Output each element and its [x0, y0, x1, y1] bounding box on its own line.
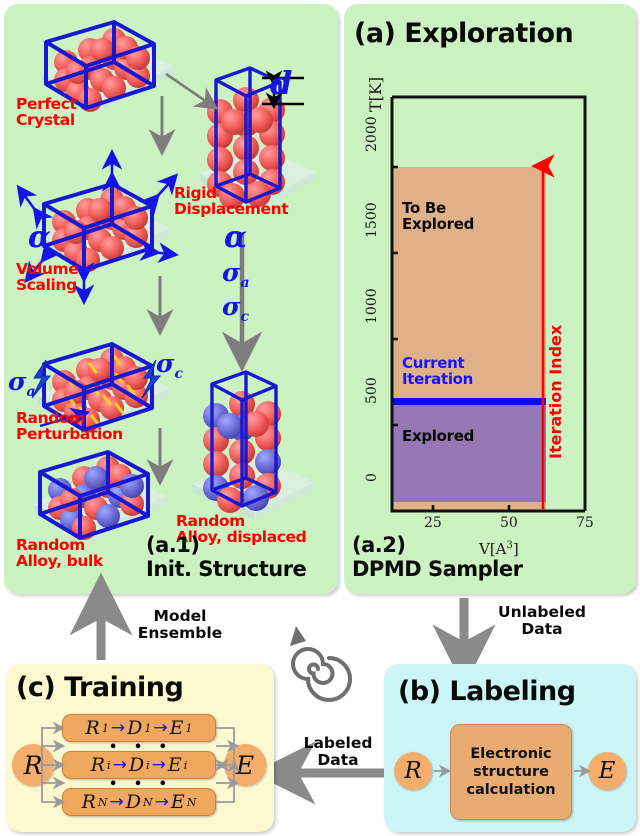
chart-ytick-1000: 1000 [364, 288, 380, 324]
label-model-ensemble: Model Ensemble [120, 608, 240, 641]
label-random-alloy-bulk: Random Alloy, bulk [16, 538, 103, 570]
label-sigma-c-flow: σc [222, 292, 249, 325]
label-unlabeled-data: Unlabeled Data [482, 604, 602, 637]
chart-ytick-500: 500 [364, 377, 380, 404]
chart-ytick-1500: 1500 [364, 202, 380, 238]
caption-a1-id: (a.1) [146, 533, 199, 557]
label-random-perturbation: Random Perturbation [16, 411, 123, 443]
chart-xtick-50: 50 [500, 515, 518, 531]
panel-exploration: (a) Exploration [344, 4, 636, 594]
iteration-index-label: Iteration Index [546, 325, 565, 459]
label-alpha-scaling: α [28, 220, 51, 255]
region-current-iteration [392, 398, 546, 405]
chart-canvas [344, 4, 636, 594]
chart-ytick-2000: 2000 [364, 116, 380, 152]
label-sigma-a: σa [8, 367, 36, 400]
random-alloy-displaced-structure [192, 372, 314, 520]
panel-labeling: (b) Labeling R Electronic structure calc… [384, 664, 636, 832]
spiral-arrowhead [290, 626, 306, 646]
label-sigma-c: σc [156, 349, 183, 382]
chart-xlabel: V[A3] [479, 540, 519, 558]
panel-init-structure: Perfect Crystal Volume Scaling Random Pe… [4, 4, 338, 594]
label-alpha-flow: α [224, 220, 247, 255]
region-explored [392, 404, 546, 502]
label-volume-scaling: Volume Scaling [16, 262, 78, 294]
chart-ylabel: T[K] [366, 77, 385, 112]
caption-a2-text: DPMD Sampler [352, 557, 522, 581]
label-sigma-a-flow: σa [222, 258, 250, 291]
spiral-arrow-icon [293, 649, 350, 700]
caption-a1-text: Init. Structure [146, 557, 306, 581]
label-perfect-crystal: Perfect Crystal [16, 97, 77, 129]
label-d-symbol: d [270, 64, 292, 102]
region-label-current-iteration: Current Iteration [402, 356, 473, 388]
chart-xtick-25: 25 [424, 515, 442, 531]
exploration-chart: T[K] 2000 1500 1000 500 0 25 50 75 V[A3]… [344, 4, 636, 594]
labeling-wiring [384, 664, 636, 832]
chart-ytick-0: 0 [364, 473, 380, 482]
label-rigid-displacement: Rigid Displacement [174, 186, 288, 218]
training-wiring [6, 664, 274, 832]
region-label-to-be-explored: To Be Explored [402, 201, 474, 233]
region-label-explored: Explored [402, 429, 474, 445]
caption-a2-id: (a.2) [352, 533, 405, 557]
chart-xtick-75: 75 [576, 515, 594, 531]
panel-training: (c) Training R E R1 → D1 → E1 Ri → Di → … [6, 664, 274, 832]
label-labeled-data: Labeled Data [288, 735, 388, 768]
random-alloy-bulk-structure [34, 452, 166, 540]
